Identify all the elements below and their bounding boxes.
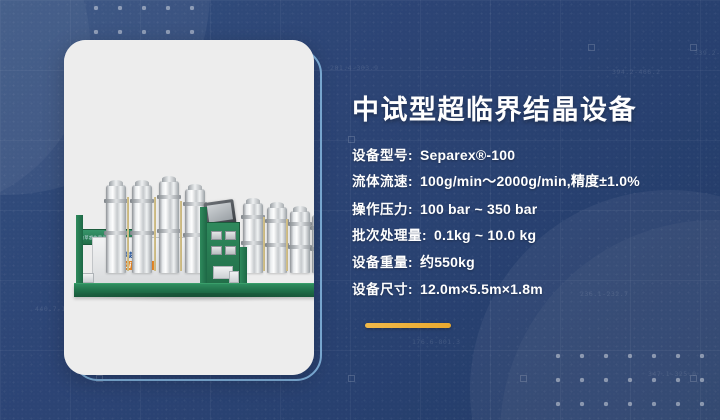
marker-square (348, 375, 355, 382)
spec-row-model: 设备型号: Separex®-100 (352, 144, 702, 164)
spec-row-dimensions: 设备尺寸: 12.0m×5.5m×1.8m (352, 278, 702, 298)
pressure-vessel (267, 207, 287, 273)
slide-canvas: 162.2-191.5 176.6-801.3 440.7-110.3 236.… (0, 0, 720, 420)
process-pipe (127, 197, 129, 271)
spec-value: Separex®-100 (420, 147, 515, 163)
dot-cluster-bottom-right (546, 344, 720, 420)
product-image: 普萃超临界设备 普萃超临界 prcitsom (64, 40, 314, 375)
spec-row-flow-rate: 流体流速: 100g/min～2000g/min,精度±1.0% (352, 170, 702, 191)
spec-row-weight: 设备重量: 约550kg (352, 251, 702, 272)
spec-label: 设备重量: (352, 251, 413, 271)
pressure-vessel (290, 211, 310, 273)
spec-label: 批次处理量: (352, 224, 427, 244)
process-pipe (263, 217, 265, 271)
frame-post (200, 207, 207, 285)
spec-label: 流体流速: (352, 170, 413, 190)
decor-code-label: 281.4-303.9 (330, 64, 379, 72)
marker-square (520, 375, 527, 382)
product-info-panel: 中试型超临界结晶设备 设备型号: Separex®-100 流体流速: 100g… (352, 96, 702, 305)
process-pipe (180, 201, 182, 271)
spec-value: 100g/min～2000g/min,精度±1.0% (420, 171, 640, 191)
spec-row-batch-capacity: 批次处理量: 0.1kg ~ 10.0 kg (352, 224, 702, 244)
frame-post (240, 247, 247, 285)
decor-code-label: 176.6-801.3 (412, 338, 461, 346)
process-pipe (154, 197, 156, 271)
spec-value: 100 bar ~ 350 bar (420, 201, 537, 217)
frame-post (76, 215, 83, 285)
spec-label: 操作压力: (352, 198, 413, 218)
decor-code-label: 394.2-466.2 (612, 68, 661, 76)
process-pipe (286, 219, 288, 271)
product-image-card: 普萃超临界设备 普萃超临界 prcitsom (64, 40, 314, 375)
decor-code-label: 339.2-112.8 (694, 49, 720, 57)
floor-shadow (72, 293, 314, 303)
decor-code-label: 347.1-325.0 (648, 370, 697, 378)
spec-value: 0.1kg ~ 10.0 kg (434, 227, 536, 243)
spec-label: 设备尺寸: (352, 278, 413, 298)
spec-value: 12.0m×5.5m×1.8m (420, 281, 543, 297)
supercritical-crystallization-machine: 普萃超临界设备 普萃超临界 prcitsom (64, 147, 314, 297)
machine-component (229, 271, 239, 283)
pressure-vessel (132, 185, 152, 273)
page-title: 中试型超临界结晶设备 (352, 96, 702, 126)
spec-list: 设备型号: Separex®-100 流体流速: 100g/min～2000g/… (352, 144, 702, 299)
spec-label: 设备型号: (352, 144, 413, 164)
spec-value: 约550kg (420, 252, 475, 272)
accent-underline-bar (365, 323, 451, 328)
pressure-vessel (106, 185, 126, 273)
spec-row-pressure: 操作压力: 100 bar ~ 350 bar (352, 198, 702, 218)
pressure-vessel (312, 215, 314, 273)
marker-square (588, 44, 595, 51)
pressure-vessel (159, 181, 179, 273)
